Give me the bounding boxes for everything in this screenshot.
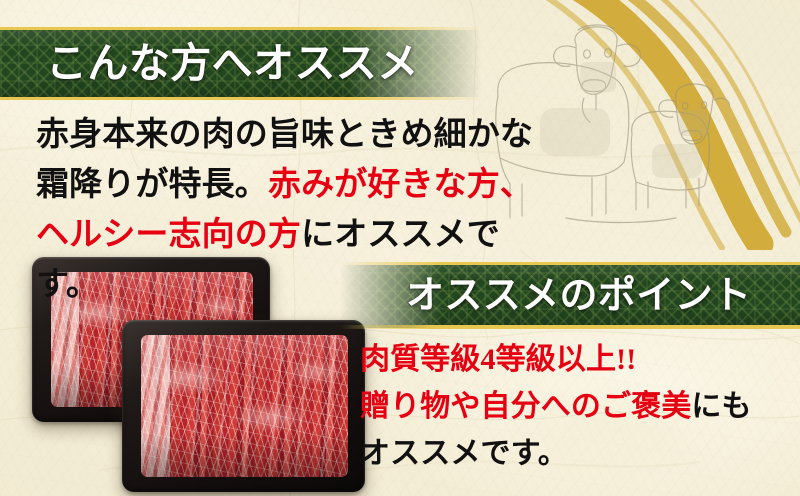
top-copy-line-1: 赤身本来の肉の旨味ときめ細かな <box>36 110 556 160</box>
banner-top-gold-rule-top <box>0 27 482 30</box>
top-copy-l2-s1: 霜降りが特長。 <box>36 167 268 203</box>
bottom-copy-l3-s1: オススメです。 <box>360 437 568 470</box>
top-copy-line-2: 霜降りが特長。赤みが好きな方、 <box>36 160 556 210</box>
top-description-text: 赤身本来の肉の旨味ときめ細かな 霜降りが特長。赤みが好きな方、 ヘルシー志向の方… <box>36 110 556 310</box>
bottom-copy-line-2: 贈り物や自分へのご褒美にも <box>360 383 790 430</box>
product-tray-front <box>122 320 365 492</box>
bottom-copy-line-1: 肉質等級4等級以上!! <box>360 336 790 383</box>
banner-bottom-gold-rule-bottom <box>340 325 800 329</box>
bottom-copy-line-3: オススメです。 <box>360 430 790 477</box>
tray-front-rim <box>122 320 365 492</box>
top-copy-l1-s1: 赤身本来の肉の旨味ときめ細かな <box>36 117 533 153</box>
bottom-copy-l1-s1-highlight: 肉質等級4等級以上!! <box>360 343 636 376</box>
top-copy-l3-s1-highlight: ヘルシー志向の方 <box>36 217 301 253</box>
top-copy-l2-s2-highlight: 赤みが好きな方、 <box>268 167 533 203</box>
bottom-copy-l2-s2: にも <box>691 390 751 423</box>
promo-banner-page: こんな方へオススメ 赤身本来の肉の旨味ときめ細かな 霜降りが特長。赤みが好きな方… <box>0 0 800 496</box>
top-copy-line-3: ヘルシー志向の方にオススメです。 <box>36 210 556 310</box>
banner-top-gold-rule-bottom <box>0 97 482 100</box>
banner-top-title: こんな方へオススメ <box>46 38 419 89</box>
bottom-copy-l2-s1-highlight: 贈り物や自分へのご褒美 <box>360 390 691 423</box>
bottom-description-text: 肉質等級4等級以上!! 贈り物や自分へのご褒美にも オススメです。 <box>360 336 790 477</box>
